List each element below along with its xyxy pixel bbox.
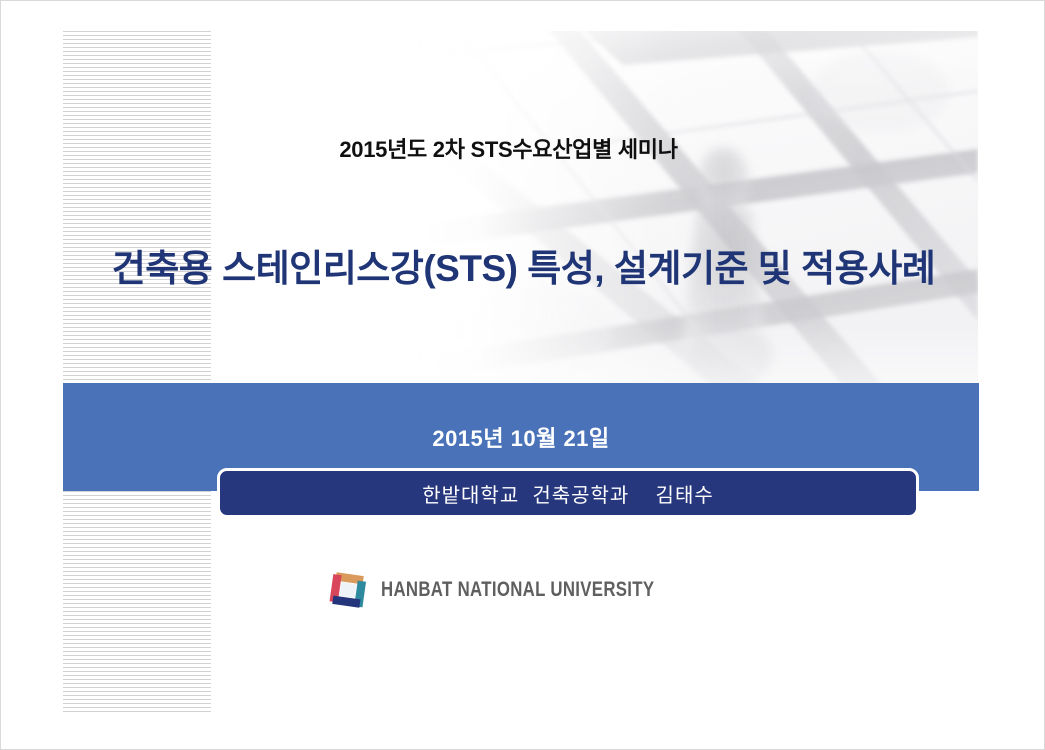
seminar-subtitle: 2015년도 2차 STS수요산업별 세미나 bbox=[1, 132, 1045, 164]
presentation-slide: 2015년도 2차 STS수요산업별 세미나 건축용 스테인리스강(STS) 특… bbox=[0, 0, 1045, 750]
university-wordmark: HANBAT NATIONAL UNIVERSITY bbox=[381, 578, 654, 602]
photo-vertical-fade bbox=[413, 31, 978, 386]
page-title: 건축용 스테인리스강(STS) 특성, 설계기준 및 적용사례 bbox=[1, 238, 1045, 292]
speaker-box: 한밭대학교 건축공학과 김태수 bbox=[217, 468, 919, 518]
skylight-photo bbox=[413, 31, 978, 386]
university-logo: HANBAT NATIONAL UNIVERSITY bbox=[1, 571, 1045, 609]
speaker-affiliation-name: 한밭대학교 건축공학과 김태수 bbox=[422, 479, 714, 508]
hanbat-emblem-icon bbox=[329, 571, 367, 609]
presentation-date: 2015년 10월 21일 bbox=[63, 421, 979, 453]
